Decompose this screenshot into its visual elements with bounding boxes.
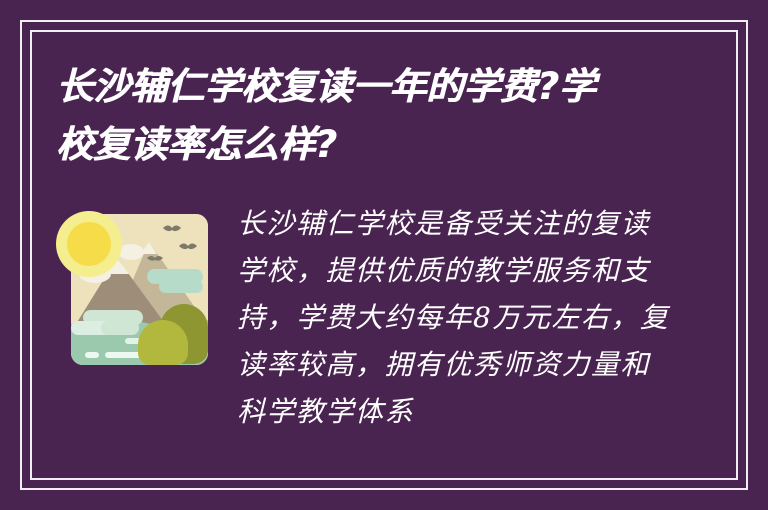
body-line: 持，学费大约每年8万元左右，复 (237, 294, 712, 341)
body-line: 长沙辅仁学校是备受关注的复读 (237, 200, 712, 247)
page-title-line-2: 校复读率怎么样? (56, 116, 676, 174)
body-line: 学校，提供优质的教学服务和支 (237, 247, 712, 294)
page-title: 长沙辅仁学校复读一年的学费?学 校复读率怎么样? (56, 58, 676, 174)
landscape-illustration (56, 208, 208, 366)
body-line: 科学教学体系 (237, 388, 712, 435)
sun-core-icon (67, 222, 111, 266)
poster-canvas: 长沙辅仁学校复读一年的学费?学 校复读率怎么样? (0, 0, 768, 510)
body-line: 读率较高，拥有优秀师资力量和 (237, 341, 712, 388)
page-title-line-1: 长沙辅仁学校复读一年的学费?学 (56, 58, 676, 116)
content-row: 长沙辅仁学校是备受关注的复读 学校，提供优质的教学服务和支 持，学费大约每年8万… (56, 200, 712, 435)
body-copy: 长沙辅仁学校是备受关注的复读 学校，提供优质的教学服务和支 持，学费大约每年8万… (237, 200, 712, 435)
bush-front-shape (138, 320, 188, 365)
